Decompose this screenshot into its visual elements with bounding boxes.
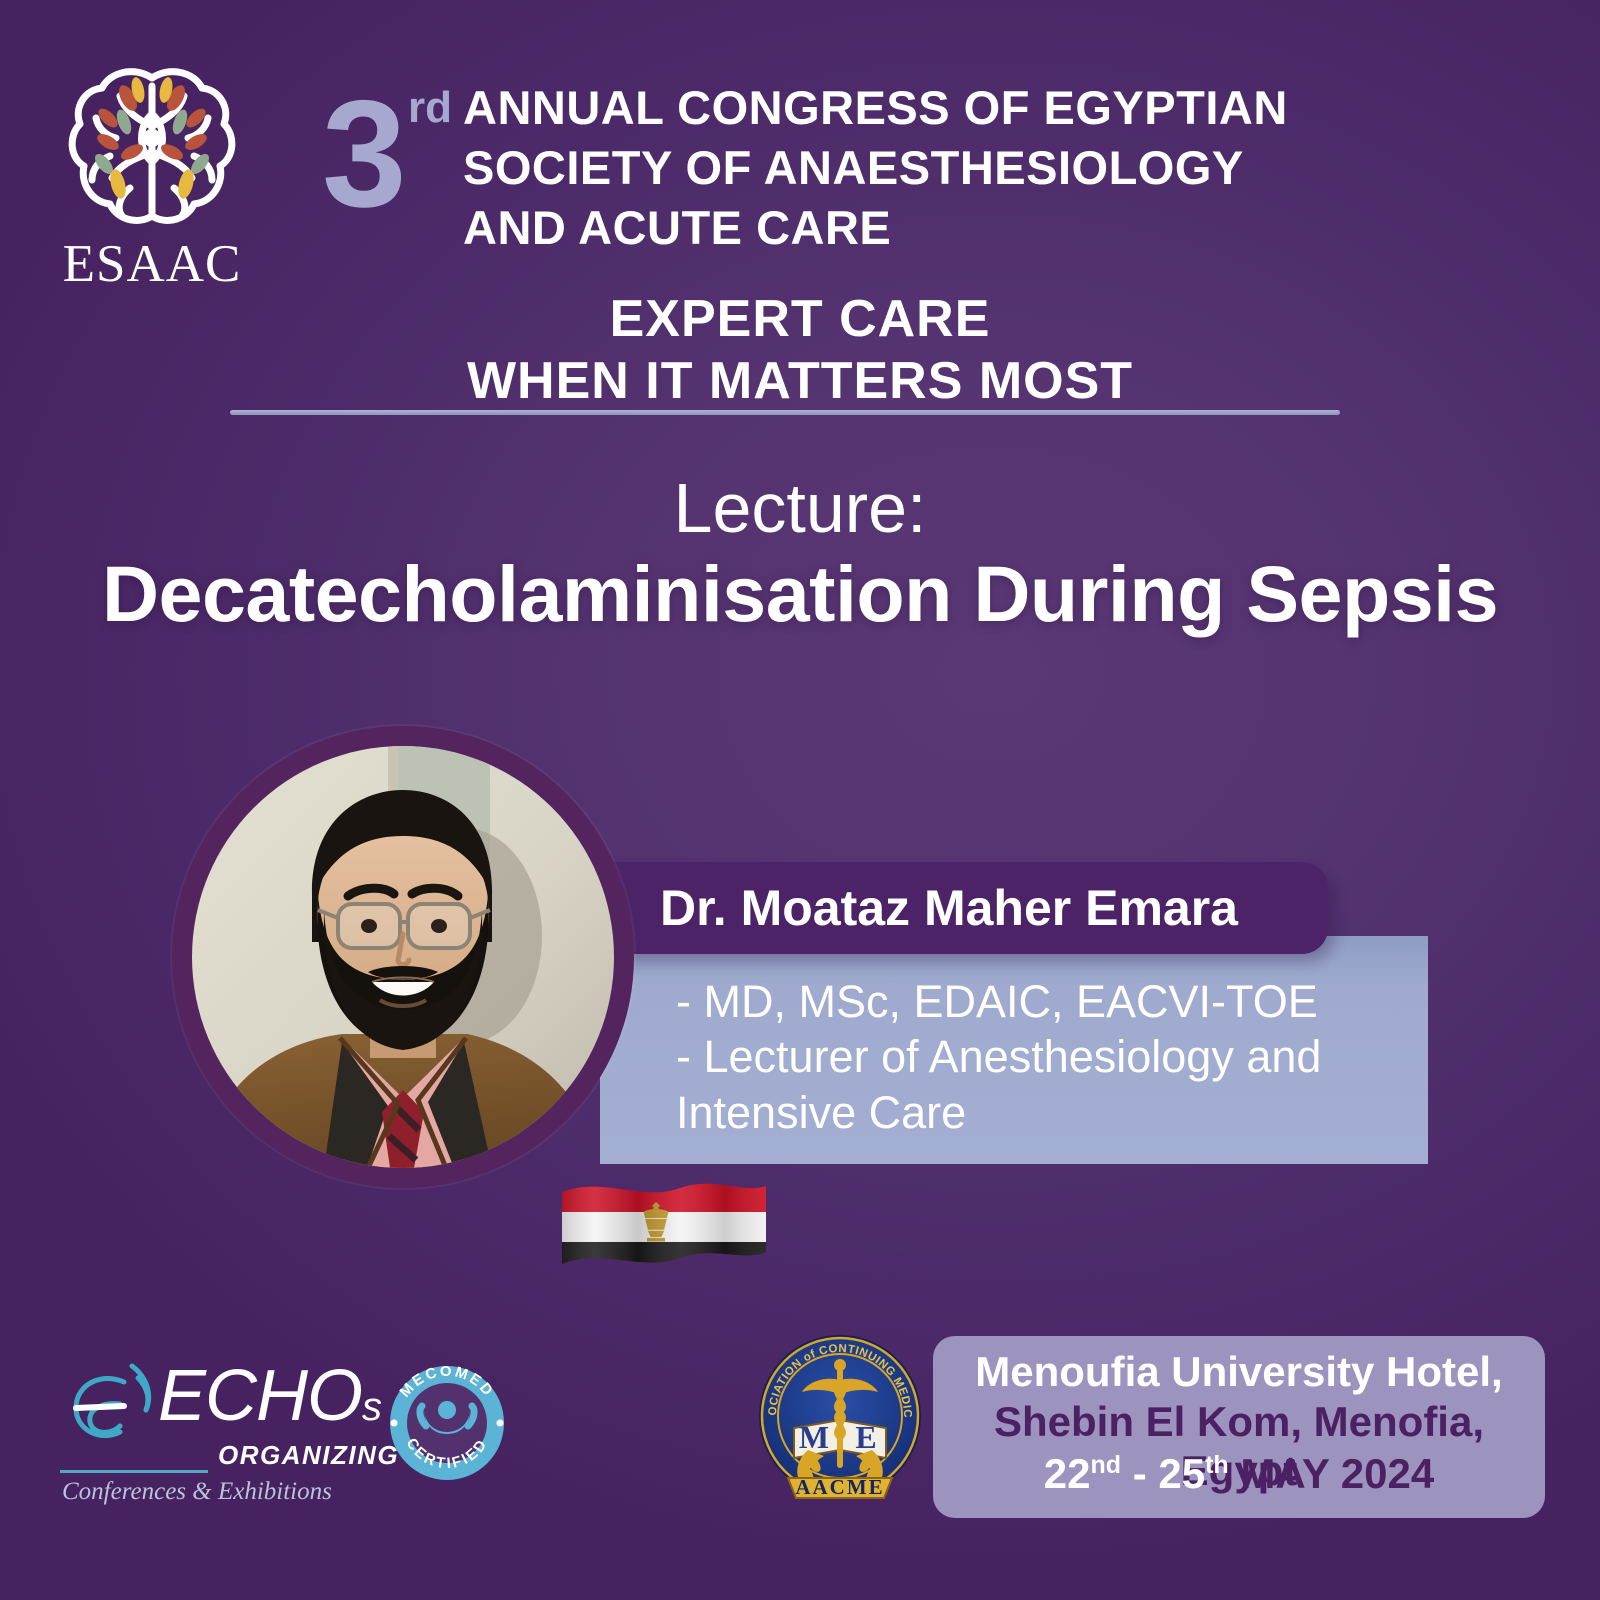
congress-title-line3: AND ACUTE CARE — [463, 198, 1313, 258]
esaac-wordmark: ESAAC — [62, 238, 242, 291]
echos-wordmark-main: ECHO — [158, 1356, 362, 1436]
venue-line1: Menoufia University Hotel, — [933, 1348, 1545, 1397]
header-divider — [230, 410, 1340, 415]
echos-rule — [60, 1470, 208, 1473]
echos-wordmark: ECHOs — [158, 1360, 381, 1432]
tagline-line2: WHEN IT MATTERS MOST — [200, 350, 1400, 412]
credentials-line2: - Lecturer of Anesthesiology and — [676, 1029, 1416, 1084]
esaac-brain-mandala-icon — [62, 56, 242, 236]
ordinal-number: 3 — [322, 78, 404, 230]
month-year: MAY 2024 — [1240, 1450, 1434, 1497]
aacme-seal-icon: AMERICAN ASSOCIATION of CONTINUING MEDIC… — [756, 1332, 924, 1500]
speaker-portrait — [192, 746, 614, 1168]
poster-canvas: ESAAC 3 rd ANNUAL CONGRESS OF EGYPTIAN S… — [0, 0, 1600, 1600]
echos-e-swirl-icon — [62, 1352, 166, 1456]
mecomed-certified-badge-icon: MECOMED CERTIFIED — [372, 1348, 522, 1498]
speaker-photo-frame — [172, 726, 634, 1188]
credentials-line1: - MD, MSc, EDAIC, EACVI-TOE — [676, 974, 1416, 1029]
credentials-line3: Intensive Care — [676, 1085, 1416, 1140]
congress-ordinal: 3 rd — [322, 72, 452, 242]
speaker-name: Dr. Moataz Maher Emara — [660, 862, 1238, 954]
congress-tagline: EXPERT CARE WHEN IT MATTERS MOST — [200, 288, 1400, 413]
echos-organizer-logo: ECHOs ORGANIZING Conferences & Exhibitio… — [62, 1330, 362, 1515]
svg-text:M: M — [799, 1419, 829, 1455]
tagline-line1: EXPERT CARE — [200, 288, 1400, 350]
speaker-credentials: - MD, MSc, EDAIC, EACVI-TOE - Lecturer o… — [676, 974, 1416, 1140]
esaac-logo: ESAAC — [62, 56, 242, 296]
congress-title-line2: SOCIETY OF ANAESTHESIOLOGY — [463, 138, 1313, 198]
congress-title-line1: ANNUAL CONGRESS OF EGYPTIAN — [463, 78, 1313, 138]
date-start: 22 — [1044, 1450, 1091, 1497]
date-end: 25 — [1158, 1450, 1205, 1497]
ordinal-suffix: rd — [408, 86, 452, 130]
lecture-label: Lecture: — [100, 468, 1500, 548]
svg-text:AACME: AACME — [795, 1475, 884, 1499]
svg-text:E: E — [855, 1419, 876, 1455]
date-start-suffix: nd — [1091, 1451, 1122, 1479]
echos-subtitle: Conferences & Exhibitions — [62, 1478, 332, 1506]
date-dash: - — [1133, 1450, 1147, 1497]
date-end-suffix: th — [1205, 1451, 1229, 1479]
congress-title: ANNUAL CONGRESS OF EGYPTIAN SOCIETY OF A… — [463, 78, 1313, 258]
venue-dates: 22nd - 25th MAY 2024 — [933, 1450, 1545, 1499]
egypt-flag-icon — [556, 1166, 772, 1296]
speaker-name-bar: Dr. Moataz Maher Emara — [560, 862, 1328, 954]
lecture-title: Decatecholaminisation During Sepsis — [60, 548, 1540, 640]
